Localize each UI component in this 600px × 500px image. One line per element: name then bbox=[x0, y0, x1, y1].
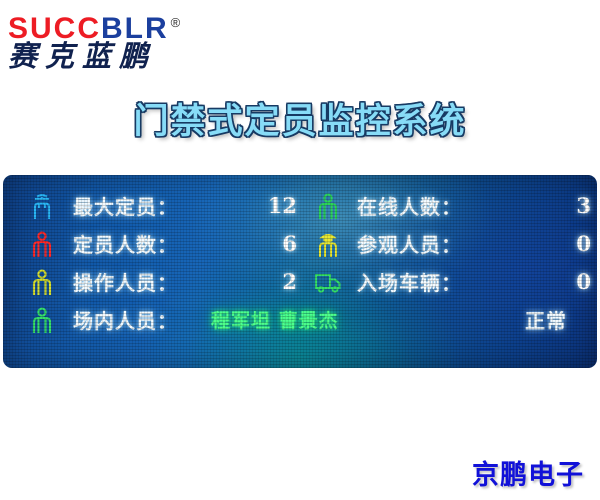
led-label: 操作人员： bbox=[73, 267, 211, 296]
logo-chinese-text: 赛克蓝鹏 bbox=[8, 40, 238, 72]
company-logo: SUCCBLR® 赛克蓝鹏 bbox=[8, 8, 238, 72]
led-cell-max-capacity: 最大定员： 12 bbox=[3, 191, 297, 220]
led-display-panel: 最大定员： 12 在线人数： 3 bbox=[3, 175, 597, 368]
led-label: 入场车辆： bbox=[357, 267, 507, 296]
led-label: 在线人数： bbox=[357, 191, 507, 220]
led-cell-registered-count: 定员人数： 6 bbox=[3, 229, 297, 258]
led-row: 最大定员： 12 在线人数： 3 bbox=[3, 188, 597, 223]
led-value: 0 bbox=[507, 269, 591, 294]
led-cell-visitor-count: 参观人员： 0 bbox=[297, 229, 591, 258]
led-row-occupants: 场内人员： 程军坦 曹景杰 正常 bbox=[3, 302, 597, 337]
truck-green-icon bbox=[311, 271, 345, 293]
led-row: 定员人数： 6 参观人员： 0 bbox=[3, 226, 597, 261]
person-red-icon bbox=[25, 231, 59, 257]
led-value: 3 bbox=[507, 193, 591, 218]
led-label: 参观人员： bbox=[357, 229, 507, 258]
occupant-names: 程军坦 曹景杰 bbox=[211, 306, 339, 333]
worker-yellow-icon bbox=[311, 231, 345, 257]
led-row: 操作人员： 2 入场车辆： 0 bbox=[3, 264, 597, 299]
person-cyan-icon bbox=[25, 193, 59, 219]
footer-brand: 京鹏电子 bbox=[472, 453, 584, 492]
person-green2-icon bbox=[25, 307, 59, 333]
status-badge: 正常 bbox=[525, 305, 567, 334]
led-value: 0 bbox=[507, 231, 591, 256]
led-label-occupants: 场内人员： bbox=[73, 305, 211, 334]
led-value: 6 bbox=[211, 231, 297, 256]
page-title: 门禁式定员监控系统 bbox=[0, 93, 600, 144]
person-yellow-icon bbox=[25, 269, 59, 295]
registered-trademark-icon: ® bbox=[171, 15, 181, 30]
logo-latin-text: SUCCBLR® bbox=[8, 8, 238, 38]
led-label: 最大定员： bbox=[73, 191, 211, 220]
led-cell-operator-count: 操作人员： 2 bbox=[3, 267, 297, 296]
led-cell-vehicle-count: 入场车辆： 0 bbox=[297, 267, 591, 296]
led-label: 定员人数： bbox=[73, 229, 211, 258]
led-value: 2 bbox=[211, 269, 297, 294]
led-value: 12 bbox=[211, 193, 297, 218]
led-cell-online-count: 在线人数： 3 bbox=[297, 191, 591, 220]
person-green-icon bbox=[311, 193, 345, 219]
